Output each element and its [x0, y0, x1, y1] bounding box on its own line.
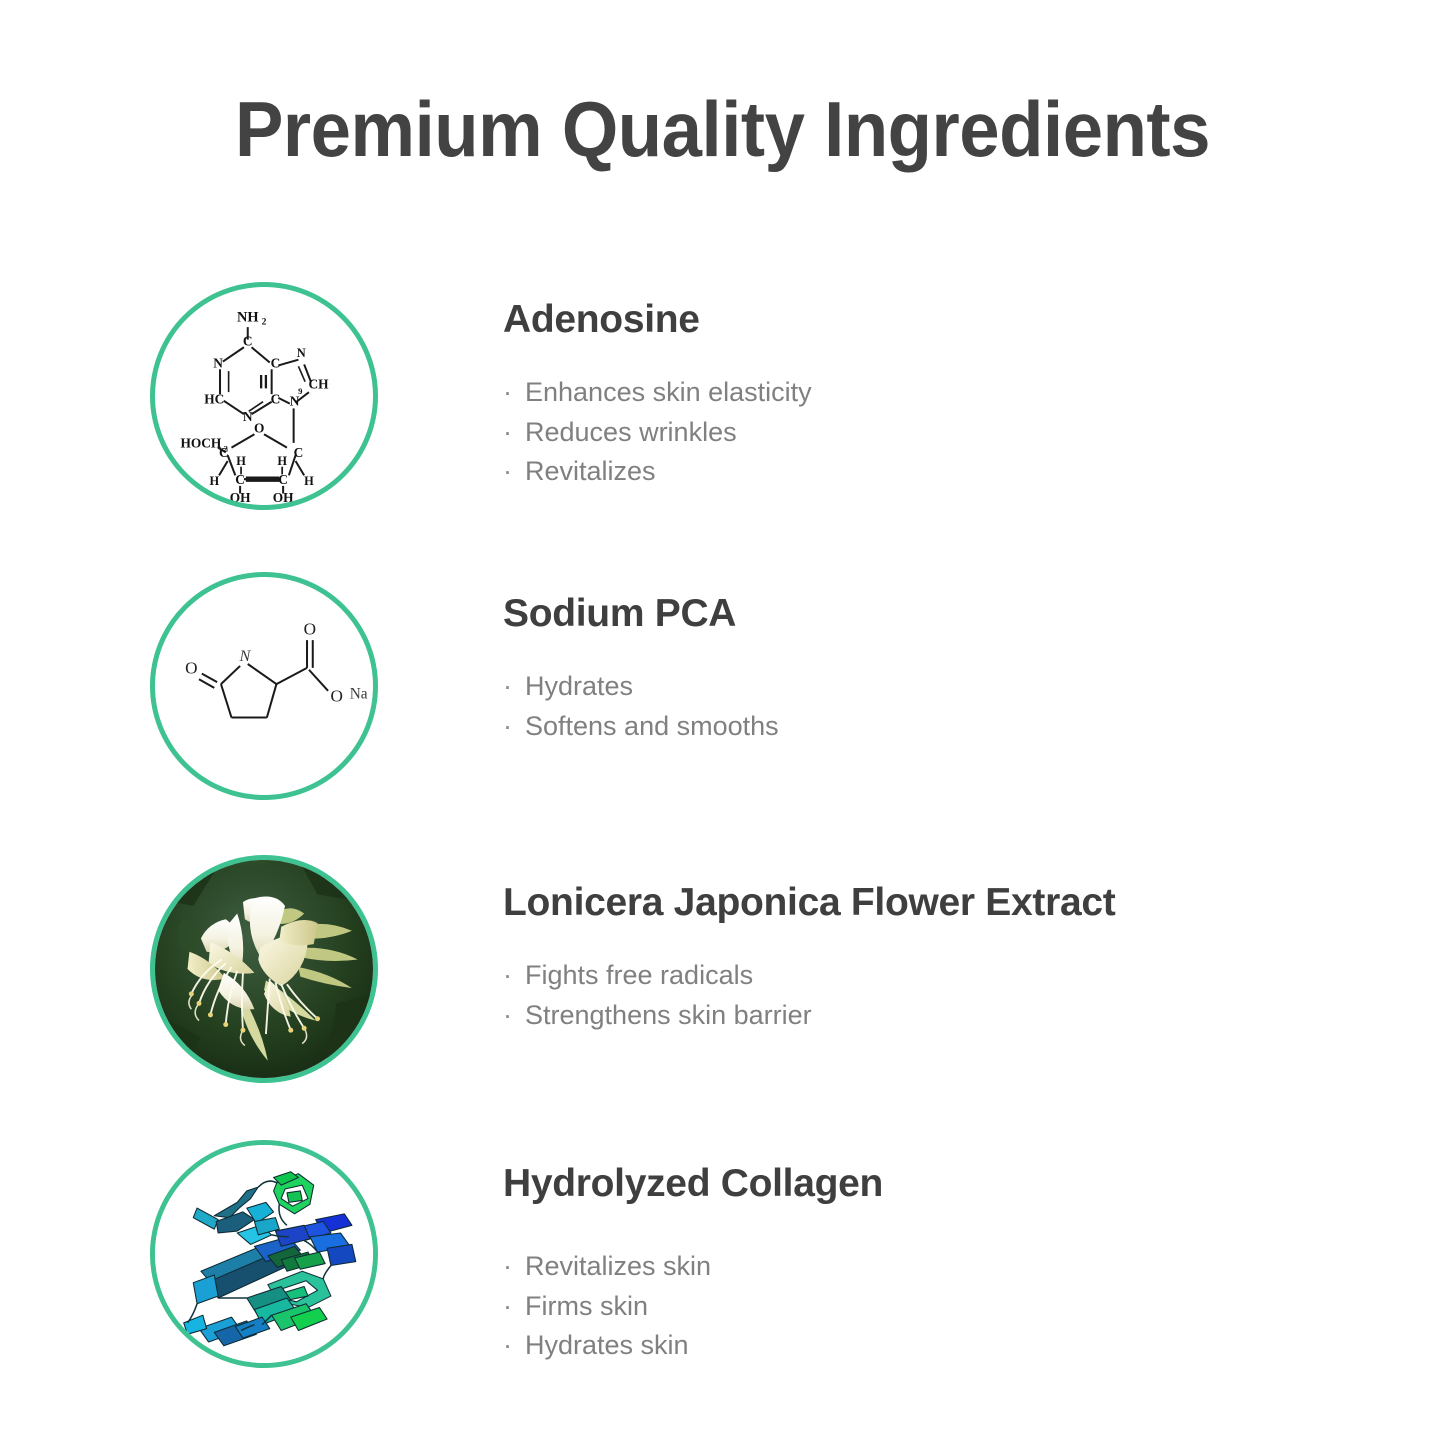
bullet-icon: ·	[503, 996, 525, 1036]
sodium-pca-molecule-icon: N O O O Na	[155, 577, 373, 795]
svg-text:N: N	[297, 346, 306, 360]
svg-text:H: H	[277, 454, 287, 468]
benefit-item: ·Softens and smooths	[503, 707, 1363, 747]
collagen-protein-ribbon-icon	[155, 1145, 373, 1363]
svg-text:C: C	[271, 355, 281, 370]
svg-text:C: C	[294, 445, 304, 460]
bullet-icon: ·	[503, 373, 525, 413]
svg-text:H: H	[304, 474, 314, 488]
svg-text:N: N	[243, 409, 253, 424]
benefit-text: Enhances skin elasticity	[525, 377, 812, 407]
benefit-text: Hydrates skin	[525, 1330, 689, 1360]
benefit-text: Firms skin	[525, 1291, 648, 1321]
page-title: Premium Quality Ingredients	[51, 84, 1395, 175]
svg-text:N: N	[238, 647, 251, 665]
svg-text:2: 2	[262, 316, 267, 327]
adenosine-molecule-icon: NH 2 C N HC N C C N CH N 9 HOCH 2 O C C	[155, 287, 373, 505]
benefit-item: ·Fights free radicals	[503, 956, 1363, 996]
benefit-text: Reduces wrinkles	[525, 417, 737, 447]
benefit-text: Revitalizes	[525, 456, 656, 486]
svg-text:C: C	[243, 333, 253, 348]
svg-text:OH: OH	[230, 490, 251, 505]
svg-text:HOCH: HOCH	[180, 436, 221, 451]
benefit-list: ·Fights free radicals ·Strengthens skin …	[503, 956, 1363, 1035]
ingredient-icon-adenosine: NH 2 C N HC N C C N CH N 9 HOCH 2 O C C	[150, 282, 378, 510]
ingredient-name: Lonicera Japonica Flower Extract	[503, 883, 1363, 922]
bullet-icon: ·	[503, 1287, 525, 1327]
svg-text:OH: OH	[273, 490, 294, 505]
benefit-list: ·Revitalizes skin ·Firms skin ·Hydrates …	[503, 1247, 1363, 1366]
benefit-list: ·Enhances skin elasticity ·Reduces wrink…	[503, 373, 1363, 492]
ingredient-info-adenosine: Adenosine ·Enhances skin elasticity ·Red…	[503, 300, 1363, 492]
svg-text:O: O	[185, 659, 197, 678]
ingredient-icon-hydrolyzed-collagen	[150, 1140, 378, 1368]
svg-text:C: C	[235, 472, 245, 487]
bullet-icon: ·	[503, 707, 525, 747]
benefit-text: Hydrates	[525, 671, 633, 701]
svg-text:H: H	[236, 454, 246, 468]
bullet-icon: ·	[503, 1326, 525, 1366]
benefit-item: ·Revitalizes	[503, 452, 1363, 492]
bullet-icon: ·	[503, 1247, 525, 1287]
ingredient-info-hydrolyzed-collagen: Hydrolyzed Collagen ·Revitalizes skin ·F…	[503, 1164, 1363, 1366]
svg-text:O: O	[330, 686, 342, 705]
svg-text:O: O	[304, 619, 316, 638]
svg-text:C: C	[271, 392, 281, 407]
ingredient-info-lonicera-japonica: Lonicera Japonica Flower Extract ·Fights…	[503, 883, 1363, 1035]
bullet-icon: ·	[503, 667, 525, 707]
svg-text:N: N	[213, 355, 223, 370]
bullet-icon: ·	[503, 413, 525, 453]
ingredient-icon-lonicera-japonica	[150, 855, 378, 1083]
benefit-text: Strengthens skin barrier	[525, 1000, 812, 1030]
svg-text:9: 9	[298, 386, 302, 396]
benefit-item: ·Hydrates skin	[503, 1326, 1363, 1366]
bullet-icon: ·	[503, 452, 525, 492]
svg-text:C: C	[219, 445, 229, 460]
benefit-text: Softens and smooths	[525, 711, 779, 741]
ingredient-name: Hydrolyzed Collagen	[503, 1164, 1363, 1203]
ingredient-name: Sodium PCA	[503, 594, 1363, 633]
benefit-item: ·Hydrates	[503, 667, 1363, 707]
ingredient-icon-sodium-pca: N O O O Na	[150, 572, 378, 800]
ingredients-infographic: Premium Quality Ingredients	[0, 0, 1445, 1445]
ingredient-name: Adenosine	[503, 300, 1363, 339]
benefit-item: ·Reduces wrinkles	[503, 413, 1363, 453]
benefit-text: Revitalizes skin	[525, 1251, 711, 1281]
svg-text:Na: Na	[350, 685, 368, 702]
svg-text:NH: NH	[237, 309, 259, 325]
svg-text:O: O	[254, 420, 264, 435]
svg-text:HC: HC	[204, 392, 224, 407]
bullet-icon: ·	[503, 956, 525, 996]
benefit-list: ·Hydrates ·Softens and smooths	[503, 667, 1363, 746]
honeysuckle-flower-icon	[155, 860, 373, 1078]
benefit-item: ·Revitalizes skin	[503, 1247, 1363, 1287]
svg-text:H: H	[209, 474, 219, 488]
svg-text:C: C	[278, 472, 288, 487]
benefit-item: ·Enhances skin elasticity	[503, 373, 1363, 413]
svg-text:CH: CH	[308, 376, 329, 391]
benefit-item: ·Firms skin	[503, 1287, 1363, 1327]
benefit-text: Fights free radicals	[525, 960, 753, 990]
benefit-item: ·Strengthens skin barrier	[503, 996, 1363, 1036]
ingredient-info-sodium-pca: Sodium PCA ·Hydrates ·Softens and smooth…	[503, 594, 1363, 746]
